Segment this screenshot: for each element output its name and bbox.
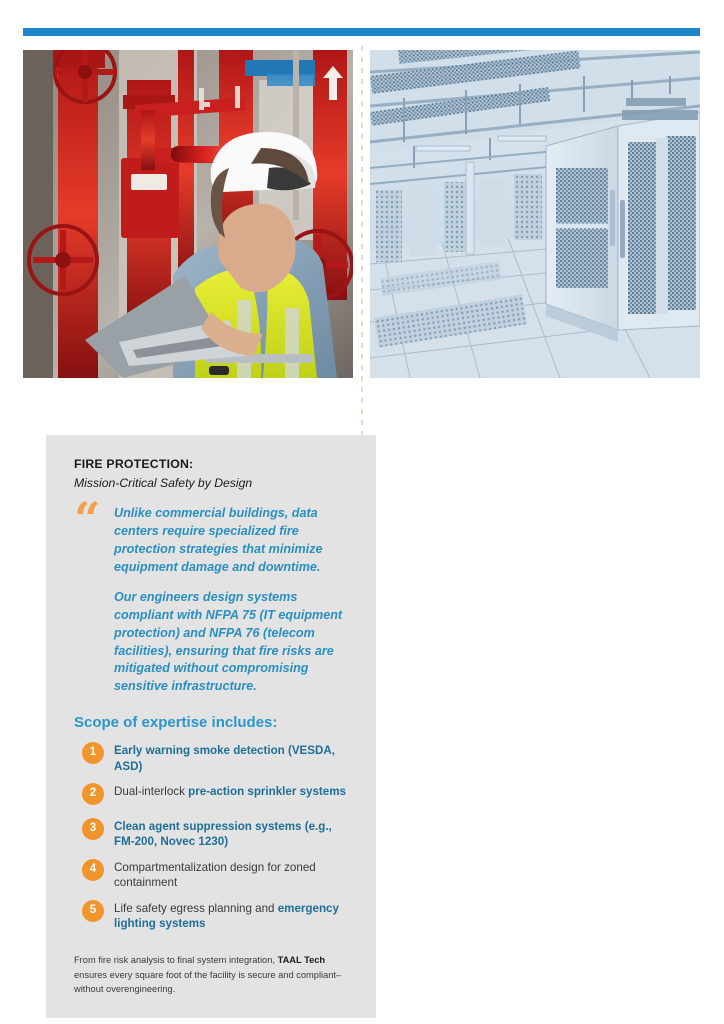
list-number-badge: 5 [82, 900, 104, 922]
list-item-text: Life safety egress planning and emergenc… [114, 900, 352, 932]
list-item: 1Early warning smoke detection (VESDA, A… [74, 742, 352, 774]
right-column: STRUCTURAL ENGINEERING: Designed for Loa… [370, 50, 700, 378]
top-accent-bar [23, 28, 700, 36]
fire-protection-note: From fire risk analysis to final system … [74, 953, 352, 996]
structural-engineering-photo [370, 50, 700, 378]
scope-of-expertise-title: Scope of expertise includes: [74, 714, 352, 732]
list-number-badge: 1 [82, 742, 104, 764]
list-item-text: Dual-interlock pre-action sprinkler syst… [114, 783, 352, 799]
list-item: 4Compartmentalization design for zoned c… [74, 859, 352, 891]
fire-protection-photo [23, 50, 353, 378]
list-item: 5Life safety egress planning and emergen… [74, 900, 352, 932]
list-item-text: Clean agent suppression systems (e.g., F… [114, 818, 352, 850]
list-number-badge: 2 [82, 783, 104, 805]
list-item-text: Early warning smoke detection (VESDA, AS… [114, 742, 352, 774]
scope-of-expertise-list: 1Early warning smoke detection (VESDA, A… [74, 742, 352, 931]
fire-protection-quote-block: “ Unlike commercial buildings, data cent… [74, 505, 352, 696]
fire-protection-subkicker: Mission-Critical Safety by Design [74, 475, 352, 491]
quote-mark-icon: “ [74, 496, 99, 542]
quote-paragraph: Unlike commercial buildings, data center… [114, 505, 352, 577]
brochure-page: FIRE PROTECTION: Mission-Critical Safety… [0, 0, 724, 1024]
list-item: 3Clean agent suppression systems (e.g., … [74, 818, 352, 850]
fire-protection-kicker: FIRE PROTECTION: [74, 457, 352, 473]
fire-protection-panel: FIRE PROTECTION: Mission-Critical Safety… [46, 435, 376, 1018]
left-column: FIRE PROTECTION: Mission-Critical Safety… [23, 50, 353, 378]
list-item-text: Compartmentalization design for zoned co… [114, 859, 352, 891]
fire-protection-quote-paragraphs: Unlike commercial buildings, data center… [114, 505, 352, 696]
list-item: 2Dual-interlock pre-action sprinkler sys… [74, 783, 352, 809]
list-number-badge: 3 [82, 818, 104, 840]
list-number-badge: 4 [82, 859, 104, 881]
quote-paragraph: Our engineers design systems compliant w… [114, 589, 352, 696]
